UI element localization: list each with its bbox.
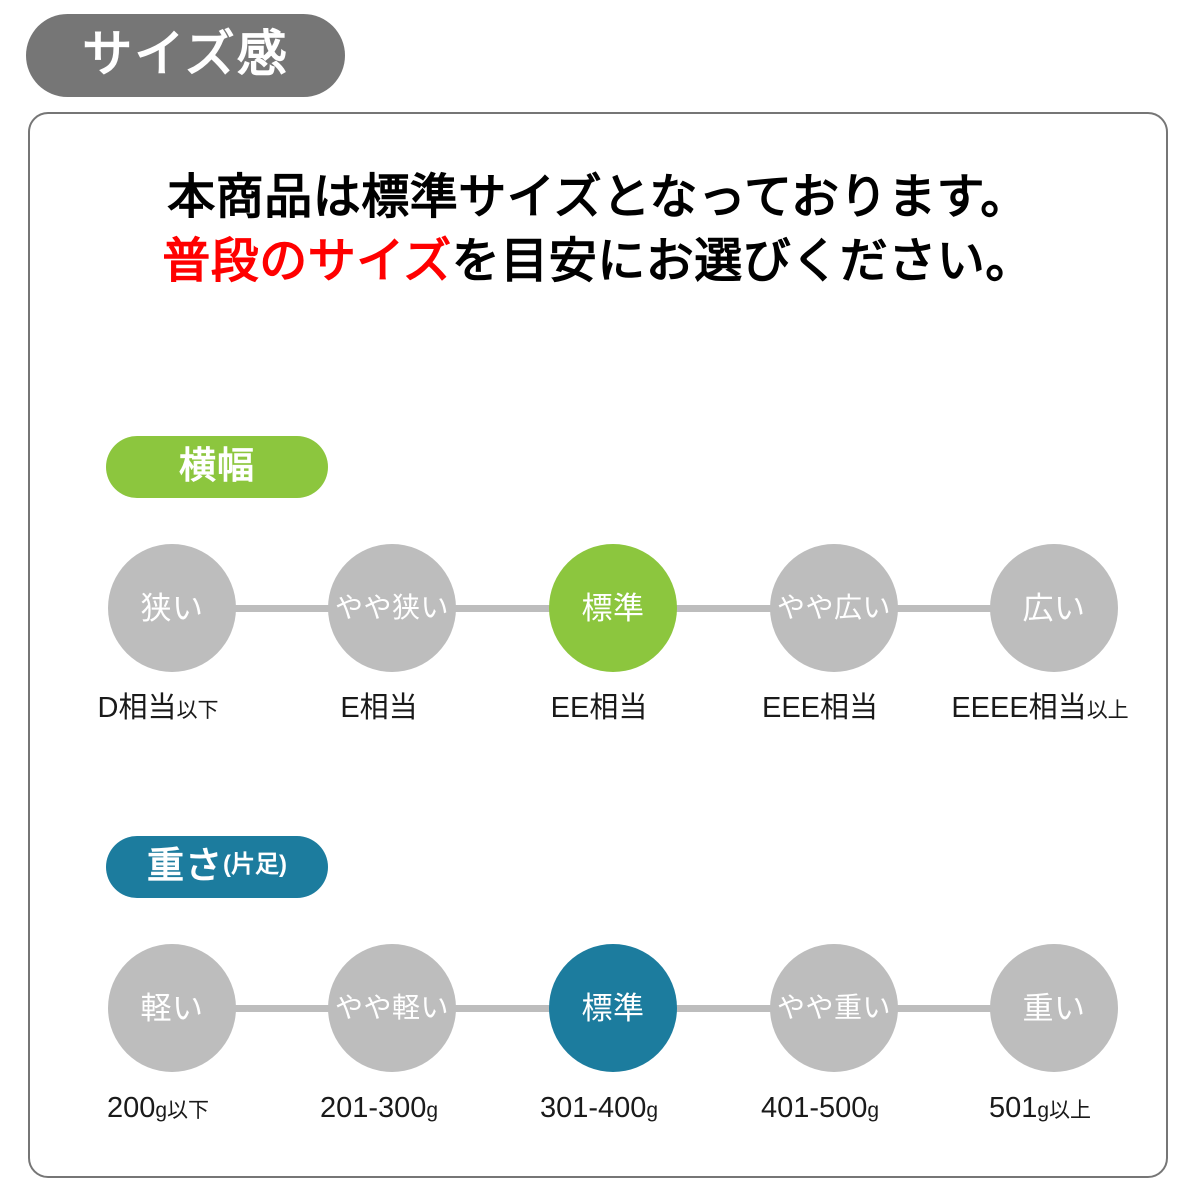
headline-line-1: 本商品は標準サイズとなっております。 [30,166,1166,230]
weight-node-standard-label: 標準 [582,993,645,1024]
width-caption-row: D相当以下 E相当 EE相当 EEE相当 EEEE相当以上 [30,694,1200,740]
width-node-slightly-narrow-circle: やや狭い [328,544,456,672]
weight-caption-1-small: g [426,1099,438,1122]
width-node-narrow-label: 狭い [141,593,204,624]
width-node-wide[interactable]: 広い [990,544,1118,672]
weight-node-standard[interactable]: 標準 [549,944,677,1072]
width-connector-0-1 [232,605,332,612]
weight-node-slightly-light-circle: やや軽い [328,944,456,1072]
weight-connector-0-1 [232,1005,332,1012]
width-caption-2-main: EE相当 [551,692,648,724]
weight-node-slightly-heavy-circle: やや重い [770,944,898,1072]
width-connector-2-3 [674,605,774,612]
width-connector-1-2 [453,605,553,612]
weight-node-heavy-circle: 重い [990,944,1118,1072]
weight-caption-2-small: g [646,1099,658,1122]
width-node-slightly-wide-circle: やや広い [770,544,898,672]
weight-node-heavy[interactable]: 重い [990,944,1118,1072]
width-section-badge: 横幅 [106,436,328,498]
weight-node-slightly-heavy-label: やや重い [777,994,891,1022]
weight-node-standard-circle: 標準 [549,944,677,1072]
width-node-slightly-wide[interactable]: やや広い [770,544,898,672]
width-caption-0-main: D相当 [98,692,177,724]
weight-connector-3-4 [894,1005,994,1012]
weight-connector-1-2 [453,1005,553,1012]
width-node-narrow[interactable]: 狭い [108,544,236,672]
weight-caption-1-main: 201-300 [320,1092,426,1124]
width-node-wide-label: 広い [1023,593,1086,624]
weight-node-slightly-light-label: やや軽い [335,994,449,1022]
width-caption-1-main: E相当 [340,692,417,724]
width-caption-4-main: EEEE相当 [951,692,1086,724]
weight-badge-sublabel: (片足) [223,853,287,881]
weight-caption-row: 200g以下 201-300g 301-400g 401-500g 501g以上 [30,1094,1200,1140]
headline-block: 本商品は標準サイズとなっております。 普段のサイズを目安にお選びください。 [30,166,1166,295]
header-badge-label: サイズ感 [82,29,289,82]
weight-connector-2-3 [674,1005,774,1012]
weight-caption-3-small: g [867,1099,879,1122]
headline-line-2-rest: を目安にお選びください。 [452,235,1034,288]
weight-section-badge: 重さ(片足) [106,836,328,898]
width-caption-3-main: EEE相当 [762,692,878,724]
size-feel-header-badge: サイズ感 [26,14,345,97]
weight-scale-row: 軽い やや軽い 標準 やや重い 重い [108,944,1118,1072]
weight-node-slightly-heavy[interactable]: やや重い [770,944,898,1072]
width-node-narrow-circle: 狭い [108,544,236,672]
width-node-standard-label: 標準 [582,593,645,624]
headline-emphasis: 普段のサイズ [162,235,452,288]
weight-caption-0-small: g以下 [155,1099,209,1122]
width-node-slightly-narrow[interactable]: やや狭い [328,544,456,672]
weight-caption-3-main: 401-500 [761,1092,867,1124]
width-caption-0-small: 以下 [176,699,218,722]
weight-caption-0-main: 200 [107,1092,155,1124]
width-node-slightly-narrow-label: やや狭い [335,594,449,622]
weight-node-heavy-label: 重い [1023,993,1086,1024]
weight-node-light-circle: 軽い [108,944,236,1072]
width-scale-row: 狭い やや狭い 標準 やや広い 広い [108,544,1118,672]
width-badge-label: 横幅 [179,447,255,487]
width-node-wide-circle: 広い [990,544,1118,672]
weight-caption-4: 501g以上 [910,1094,1170,1123]
width-caption-4-small: 以上 [1087,699,1129,722]
weight-badge-label: 重さ [147,847,223,887]
headline-line-2: 普段のサイズを目安にお選びください。 [30,230,1166,294]
weight-caption-4-small: g以上 [1037,1099,1091,1122]
width-node-standard[interactable]: 標準 [549,544,677,672]
width-caption-4: EEEE相当以上 [910,694,1170,723]
width-node-standard-circle: 標準 [549,544,677,672]
weight-node-slightly-light[interactable]: やや軽い [328,944,456,1072]
width-node-slightly-wide-label: やや広い [777,594,891,622]
weight-node-light-label: 軽い [141,993,204,1024]
weight-node-light[interactable]: 軽い [108,944,236,1072]
weight-caption-2-main: 301-400 [540,1092,646,1124]
width-connector-3-4 [894,605,994,612]
size-guide-card: 本商品は標準サイズとなっております。 普段のサイズを目安にお選びください。 横幅… [28,112,1168,1178]
weight-caption-4-main: 501 [989,1092,1037,1124]
